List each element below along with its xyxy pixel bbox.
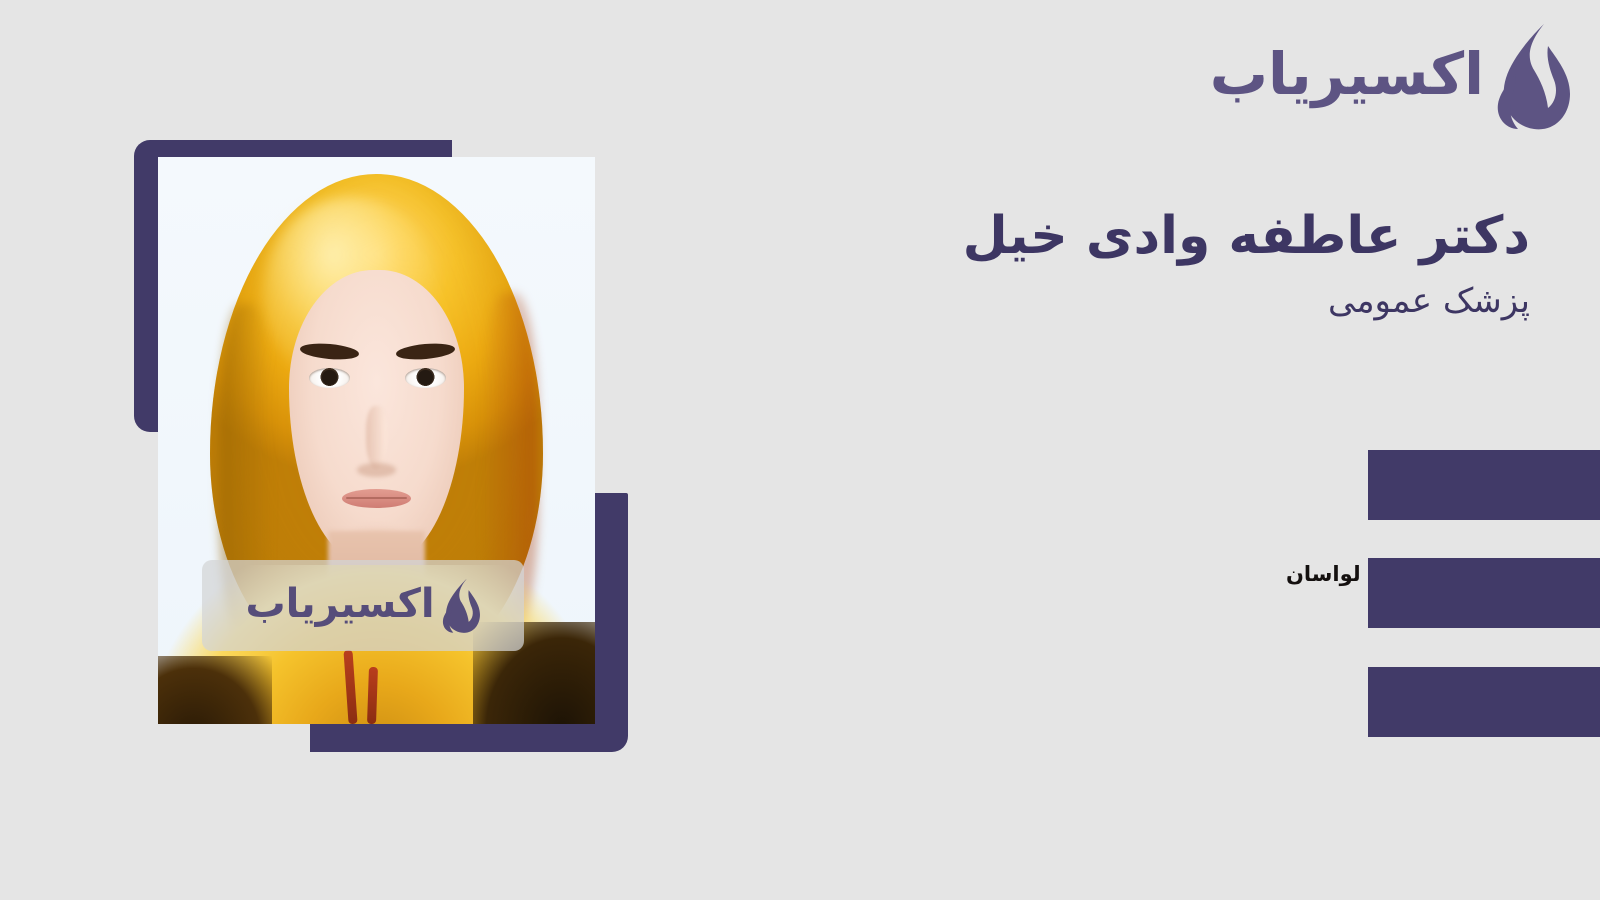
- watermark-badge: اکسیریاب: [202, 560, 524, 651]
- portrait-pupil-left: [322, 370, 337, 385]
- portrait-nose-shadow: [357, 463, 396, 477]
- profile-photo: اکسیریاب: [158, 157, 595, 724]
- brand-logo[interactable]: اکسیریاب: [1210, 22, 1572, 132]
- watermark-text: اکسیریاب: [245, 584, 434, 628]
- brand-name: اکسیریاب: [1210, 45, 1484, 109]
- accent-bar-2: [1368, 558, 1600, 628]
- watermark-flame-drop-icon: [441, 577, 481, 635]
- flame-drop-icon: [1494, 22, 1572, 132]
- profile-photo-block: اکسیریاب: [134, 140, 634, 755]
- portrait-lip-line: [346, 497, 407, 499]
- doctor-specialty: پزشک عمومی: [790, 281, 1530, 322]
- portrait-nose: [366, 406, 388, 468]
- profile-card-page: اکسیریاب: [0, 0, 1600, 900]
- accent-bar-3: [1368, 667, 1600, 737]
- portrait-garment-shadow-left: [158, 656, 272, 724]
- portrait-garment-stripe-2: [367, 667, 378, 724]
- doctor-info: دکتر عاطفه وادی خیل پزشک عمومی: [790, 206, 1530, 322]
- doctor-name: دکتر عاطفه وادی خیل: [790, 206, 1530, 267]
- accent-bar-1: [1368, 450, 1600, 520]
